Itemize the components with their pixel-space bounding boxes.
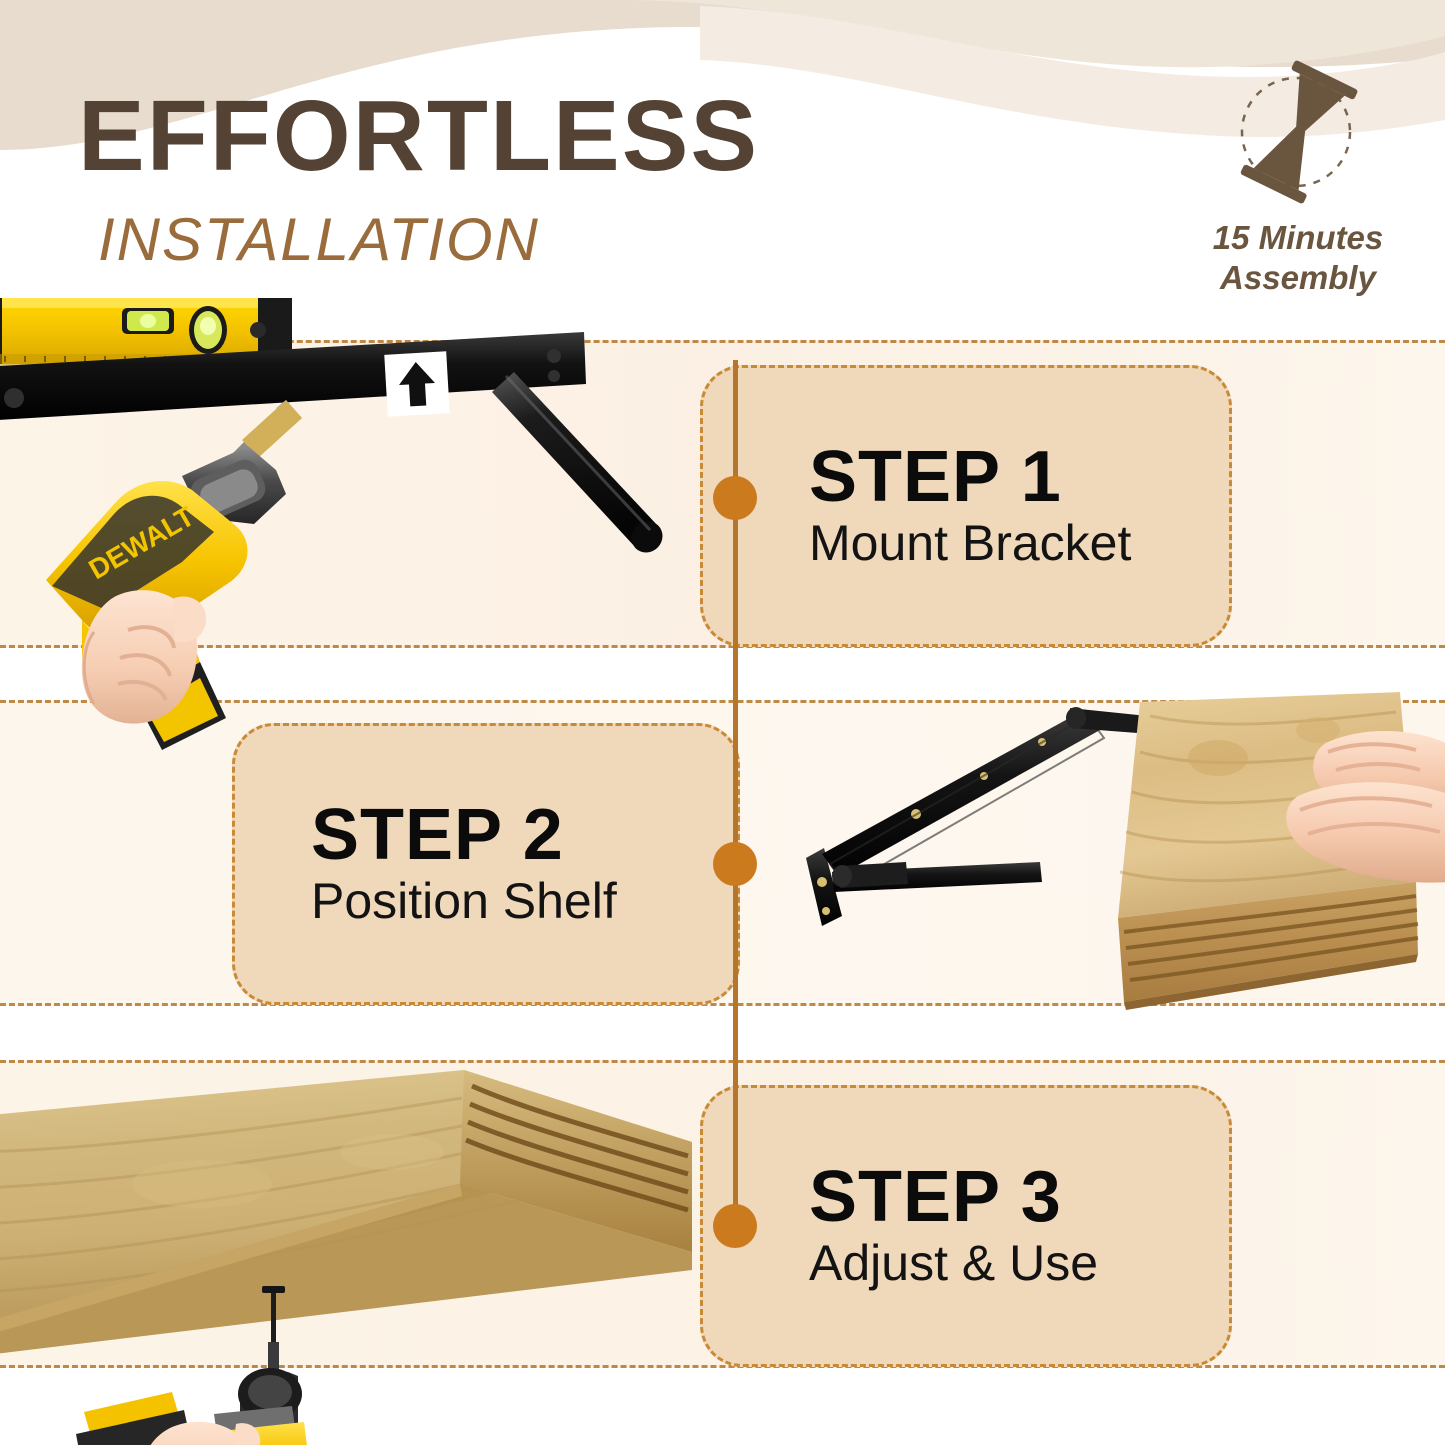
arrow-sticker [384,351,449,416]
support-rod [492,372,669,559]
step-2-subtitle: Position Shelf [311,875,737,928]
step-2-photo-svg [788,686,1445,1046]
timeline-dot-step-2[interactable] [713,842,757,886]
page-title: EFFORTLESS INSTALLATION [78,86,759,270]
headline-main: EFFORTLESS [78,86,759,186]
badge-line-2: Assembly [1178,258,1418,298]
step-2-photo [788,686,1445,1046]
step-card-2[interactable]: STEP 2 Position Shelf [232,723,740,1005]
assembly-time-badge: 15 Minutes Assembly [1178,60,1418,299]
installed-shelf [0,1070,692,1356]
infographic-canvas: DEWALT [0,0,1445,1445]
timeline-segment-2-3 [733,862,738,1230]
l-bracket [806,707,1150,926]
step-card-3[interactable]: STEP 3 Adjust & Use [700,1085,1232,1367]
step-2-title: STEP 2 [311,800,737,871]
step-3-subtitle: Adjust & Use [809,1237,1229,1290]
step-3-title: STEP 3 [809,1162,1229,1233]
hourglass-svg [1178,60,1418,210]
timeline-segment-1-2 [733,498,738,866]
headline-sub: INSTALLATION [98,210,759,270]
step-3-photo-svg: DEWALT 20V MAX [0,1056,702,1445]
timeline-dot-step-1[interactable] [713,476,757,520]
hourglass-icon [1178,60,1418,210]
step-3-photo: DEWALT 20V MAX [0,1056,702,1445]
step-1-title: STEP 1 [809,442,1229,513]
timeline-dot-step-3[interactable] [713,1204,757,1248]
badge-line-1: 15 Minutes [1178,218,1418,258]
step-1-photo-svg: DEWALT [0,280,686,665]
step-1-photo: DEWALT [0,280,686,665]
badge-text: 15 Minutes Assembly [1178,218,1418,299]
step-1-subtitle: Mount Bracket [809,517,1229,570]
step-card-1[interactable]: STEP 1 Mount Bracket [700,365,1232,647]
